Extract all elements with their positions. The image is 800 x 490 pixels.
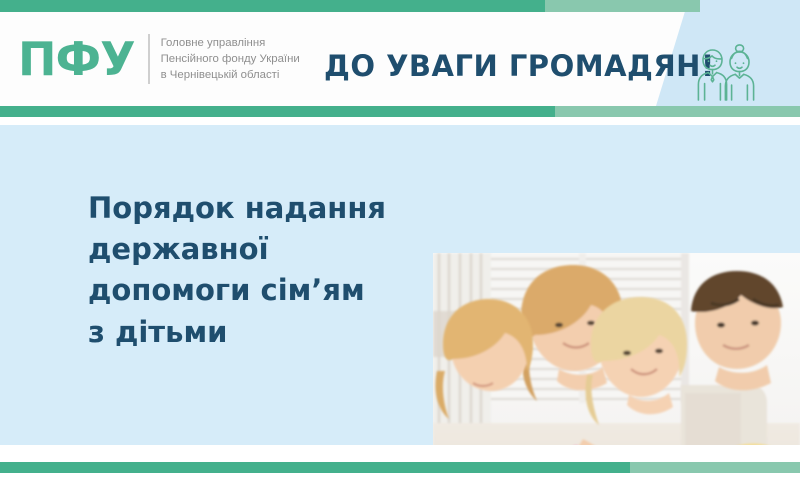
- top-bar-segment-light-green: [545, 0, 700, 12]
- top-bar-segment-blue: [700, 0, 800, 12]
- poster-canvas: ПФУ Головне управління Пенсійного фонду …: [0, 0, 800, 490]
- mid-accent-bar: [0, 106, 800, 117]
- pfu-logo-mark: ПФУ: [18, 36, 135, 82]
- header-band: ПФУ Головне управління Пенсійного фонду …: [0, 12, 800, 106]
- elderly-couple-icon: [690, 38, 762, 104]
- main-headline: Порядок надання державної допомоги сім’я…: [88, 188, 408, 353]
- attention-headline: ДО УВАГИ ГРОМАДЯН!: [324, 49, 715, 83]
- body-area: Порядок надання державної допомоги сім’я…: [0, 125, 800, 445]
- bottom-bar-segment-light-green: [630, 462, 800, 473]
- top-accent-bar: [0, 0, 800, 12]
- top-bar-segment-green: [0, 0, 545, 12]
- mid-bar-segment-light-green: [555, 106, 800, 117]
- bottom-bar-segment-green: [0, 462, 630, 473]
- mid-bar-segment-green: [0, 106, 555, 117]
- bottom-accent-bar: [0, 462, 800, 473]
- organization-subtitle: Головне управління Пенсійного фонду Укра…: [161, 35, 300, 84]
- organization-logo: ПФУ Головне управління Пенсійного фонду …: [18, 34, 300, 84]
- logo-divider: [148, 34, 150, 84]
